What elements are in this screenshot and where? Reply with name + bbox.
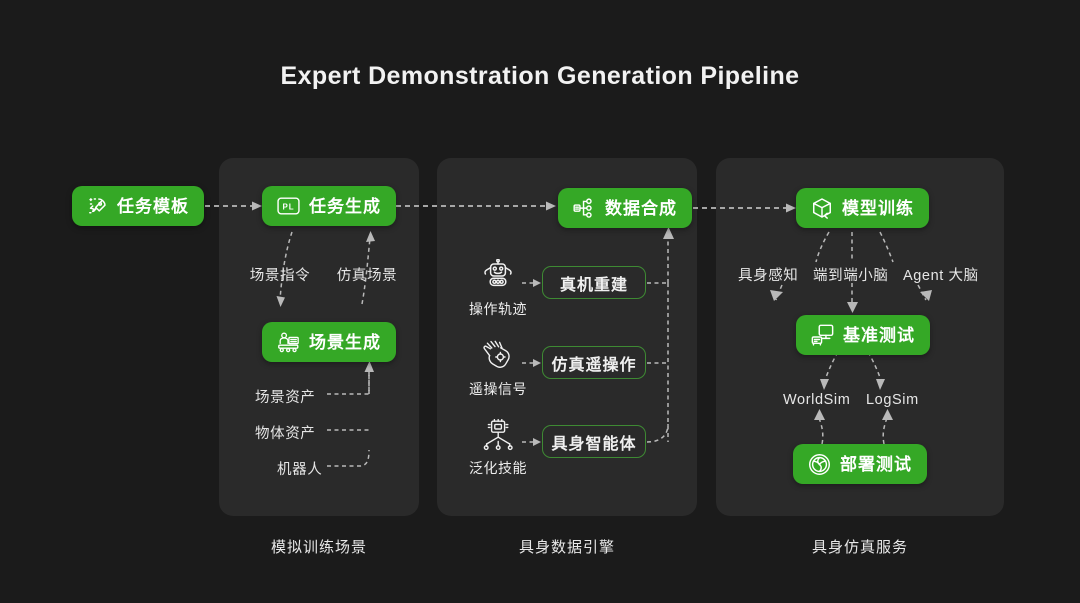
panel-caption-middle: 具身数据引擎	[437, 536, 697, 557]
svg-text:PL: PL	[283, 203, 295, 212]
node-label: 基准测试	[843, 327, 915, 344]
node-simulated-teleoperation[interactable]: 仿真遥操作	[542, 346, 646, 379]
node-label: 场景生成	[309, 334, 381, 351]
pl-badge-icon: PL	[277, 197, 300, 215]
edge-label-end-to-end-cerebellum: 端到端小脑	[813, 264, 889, 285]
node-task-generation[interactable]: PL 任务生成	[262, 186, 396, 226]
edge-label-agent-brain: Agent 大脑	[903, 264, 979, 285]
node-label: 任务模板	[117, 198, 189, 215]
node-task-template[interactable]: 任务模板	[72, 186, 204, 226]
node-scene-generation[interactable]: 场景生成	[262, 322, 396, 362]
node-model-training[interactable]: 模型训练	[796, 188, 929, 228]
source-teleop-signal: 遥操信号	[463, 337, 533, 399]
pipeline-diagram: Expert Demonstration Generation Pipeline	[0, 0, 1080, 603]
data-merge-icon	[573, 198, 596, 219]
robot-icon	[463, 257, 533, 295]
source-label: 操作轨迹	[463, 299, 533, 319]
source-label: 泛化技能	[463, 458, 533, 478]
panel-caption-left: 模拟训练场景	[219, 536, 419, 557]
node-label: 部署测试	[840, 456, 912, 473]
panel-caption-right: 具身仿真服务	[716, 536, 1004, 557]
network-chip-icon	[463, 416, 533, 454]
node-benchmark-test[interactable]: 基准测试	[796, 315, 930, 355]
edge-label-scene-asset: 场景资产	[255, 386, 315, 407]
node-deployment-test[interactable]: 部署测试	[793, 444, 927, 484]
glove-icon	[463, 337, 533, 375]
edge-label-logsim: LogSim	[866, 392, 919, 408]
node-data-synthesis[interactable]: 数据合成	[558, 188, 692, 228]
source-label: 遥操信号	[463, 379, 533, 399]
cube-train-icon	[811, 197, 833, 219]
benchmark-monitor-icon	[811, 324, 834, 346]
source-generalization-skill: 泛化技能	[463, 416, 533, 478]
node-label: 模型训练	[842, 200, 914, 217]
rocket-icon	[87, 196, 108, 217]
edge-label-worldsim: WorldSim	[783, 392, 850, 408]
conveyor-worker-icon	[277, 331, 300, 353]
node-real-machine-reconstruction[interactable]: 真机重建	[542, 266, 646, 299]
source-operation-trajectory: 操作轨迹	[463, 257, 533, 319]
edge-label-simulated-scene: 仿真场景	[327, 264, 407, 285]
edge-label-robot: 机器人	[277, 458, 322, 479]
deploy-circle-icon	[808, 453, 831, 476]
node-label: 数据合成	[605, 200, 677, 217]
page-title: Expert Demonstration Generation Pipeline	[0, 62, 1080, 91]
edge-label-scene-instruction: 场景指令	[240, 264, 320, 285]
edge-label-embodied-perception: 具身感知	[738, 264, 798, 285]
node-embodied-agent[interactable]: 具身智能体	[542, 425, 646, 458]
node-label: 任务生成	[309, 198, 381, 215]
edge-label-object-asset: 物体资产	[255, 422, 315, 443]
